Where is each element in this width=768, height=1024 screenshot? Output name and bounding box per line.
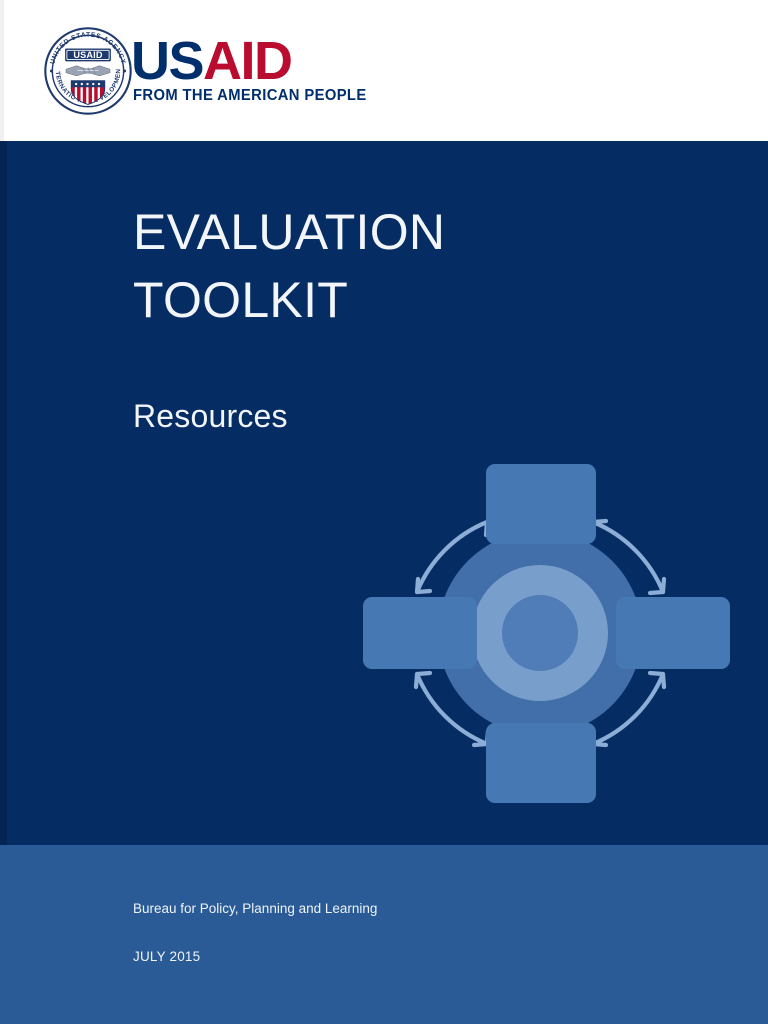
page-subtitle: Resources: [133, 398, 288, 435]
svg-text:USAID: USAID: [73, 50, 103, 60]
footer-text-block: Bureau for Policy, Planning and Learning…: [133, 899, 693, 966]
footer-bureau-label: Bureau for Policy, Planning and Learning: [133, 899, 693, 918]
node-right: [616, 597, 730, 669]
usaid-wordmark: USAID FROM THE AMERICAN PEOPLE: [131, 33, 331, 111]
cover-main-panel: EVALUATION TOOLKIT Resources: [0, 141, 768, 845]
node-bottom: [486, 723, 596, 803]
panel-left-edge-strip: [0, 141, 7, 845]
footer-date-label: JULY 2015: [133, 947, 693, 966]
cyclical-process-diagram: [355, 461, 730, 806]
node-left: [363, 597, 477, 669]
hub-inner-circle: [502, 595, 578, 671]
node-top: [486, 464, 596, 544]
usaid-wordmark-letters: USAID: [131, 33, 292, 89]
header-left-edge-strip: [0, 0, 4, 141]
usaid-seal-icon: UNITED STATES AGENCY INTERNATIONAL DEVEL…: [44, 27, 132, 115]
usaid-tagline: FROM THE AMERICAN PEOPLE: [133, 87, 367, 105]
document-cover-page: UNITED STATES AGENCY INTERNATIONAL DEVEL…: [0, 0, 768, 1024]
footer-band: Bureau for Policy, Planning and Learning…: [0, 845, 768, 1024]
title-block: EVALUATION TOOLKIT Resources: [133, 198, 653, 334]
wordmark-us-text: US: [131, 31, 203, 91]
wordmark-aid-text: AID: [203, 31, 292, 91]
page-title: EVALUATION TOOLKIT: [133, 198, 653, 334]
header-band: UNITED STATES AGENCY INTERNATIONAL DEVEL…: [0, 0, 768, 141]
